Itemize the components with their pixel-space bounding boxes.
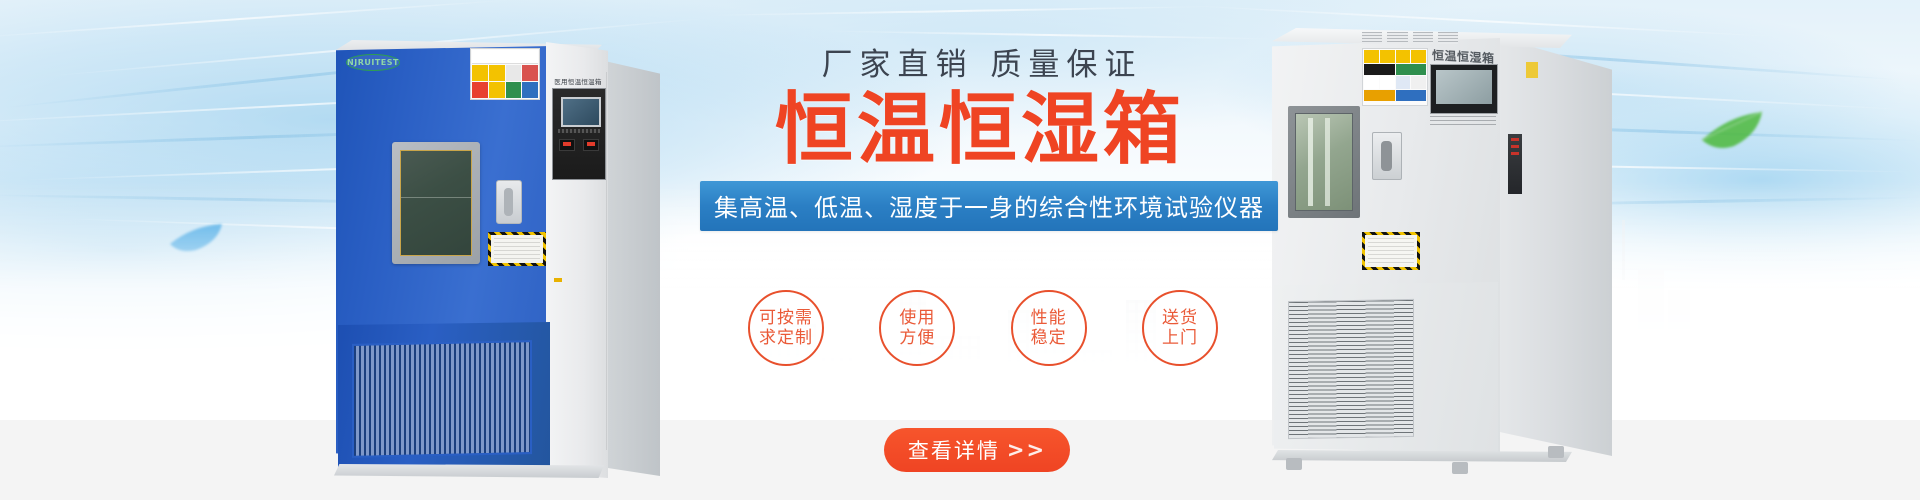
feature-line-2: 上门 xyxy=(1162,328,1198,348)
tagline: 厂家直销 质量保证 xyxy=(704,50,1260,81)
caution-plate-left xyxy=(488,232,546,266)
feature-line-1: 可按需 xyxy=(759,308,813,328)
side-sticker-right xyxy=(1526,62,1538,78)
warning-sticker-right xyxy=(1362,48,1428,106)
machine-left-blue-chamber: NJRUITEST 医用恒温恒温箱 xyxy=(318,32,660,492)
product-promo-banner: NJRUITEST 医用恒温恒温箱 xyxy=(0,0,1920,500)
air-grille-right xyxy=(1288,299,1414,439)
feature-line-2: 求定制 xyxy=(759,328,813,348)
lcd-screen-right[interactable] xyxy=(1430,64,1498,114)
feature-line-1: 送货 xyxy=(1162,308,1198,328)
caster-right-1 xyxy=(1286,458,1302,470)
side-control-strip-right[interactable] xyxy=(1508,134,1522,194)
door-handle-left[interactable] xyxy=(496,180,522,224)
view-details-button[interactable]: 查看详情 >> xyxy=(884,428,1070,472)
feature-circle-custom[interactable]: 可按需 求定制 xyxy=(748,290,824,366)
caution-plate-right xyxy=(1362,232,1420,270)
chamber-window-left xyxy=(392,142,480,264)
feature-circle-list: 可按需 求定制 使用 方便 性能 稳定 送货 上门 xyxy=(748,290,1218,366)
subtitle-bar: 集高温、低温、湿度于一身的综合性环境试验仪器 xyxy=(700,181,1278,231)
warning-sticker-left xyxy=(470,48,540,100)
indicator-strip-left xyxy=(554,278,562,282)
door-handle-right[interactable] xyxy=(1372,132,1402,180)
company-text-right xyxy=(1430,116,1496,126)
feature-line-2: 方便 xyxy=(899,328,935,348)
feature-circle-delivery[interactable]: 送货 上门 xyxy=(1142,290,1218,366)
led-display-temp-left xyxy=(559,139,575,151)
feature-circle-easy-use[interactable]: 使用 方便 xyxy=(879,290,955,366)
cta-label: 查看详情 xyxy=(908,435,1000,465)
copy-block: 厂家直销 质量保证 恒温恒湿箱 集高温、低温、湿度于一身的综合性环境试验仪器 xyxy=(700,50,1260,231)
panel-title-left: 医用恒温恒温箱 xyxy=(552,76,604,86)
chevron-right-icon: >> xyxy=(1007,438,1046,462)
feature-circle-stable[interactable]: 性能 稳定 xyxy=(1011,290,1087,366)
touchscreen-left[interactable] xyxy=(561,97,601,127)
feature-line-1: 性能 xyxy=(1031,308,1067,328)
control-panel-left[interactable] xyxy=(552,88,606,180)
chamber-window-right xyxy=(1288,106,1360,218)
air-grille-left xyxy=(352,340,532,458)
led-display-humidity-left xyxy=(583,139,599,151)
headline: 恒温恒湿箱 xyxy=(700,91,1260,169)
caster-right-3 xyxy=(1548,446,1564,458)
machine-right-gray-chamber: 恒温恒湿箱 xyxy=(1262,10,1612,492)
brand-logo-left: NJRUITEST xyxy=(346,54,400,71)
feature-line-1: 使用 xyxy=(899,308,935,328)
feature-line-2: 稳定 xyxy=(1031,328,1067,348)
caster-right-2 xyxy=(1452,462,1468,474)
green-leaf-decoration xyxy=(1700,110,1780,154)
top-vents-right xyxy=(1362,32,1458,44)
